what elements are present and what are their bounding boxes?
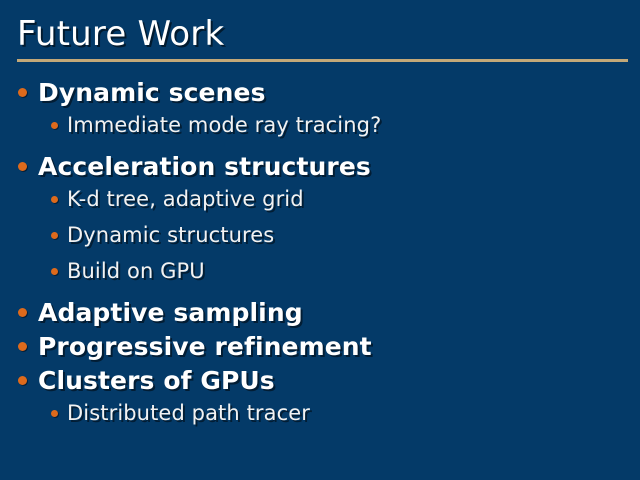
- list-item-label: Build on GPU: [67, 258, 205, 284]
- page-title: Future Work: [17, 14, 224, 54]
- list-item-label: Dynamic scenes: [38, 78, 266, 108]
- list-item: Progressive refinement: [0, 332, 640, 362]
- list-item: Build on GPU: [0, 258, 640, 284]
- list-item: Immediate mode ray tracing?: [0, 112, 640, 138]
- bullet-marker-icon: [18, 162, 27, 171]
- list-item: Dynamic scenes: [0, 78, 640, 108]
- list-item-label: Clusters of GPUs: [38, 366, 275, 396]
- bullet-marker-icon: [51, 232, 58, 239]
- bullet-marker-icon: [18, 342, 27, 351]
- slide-title-block: Future Work: [0, 0, 640, 70]
- bullet-marker-icon: [18, 88, 27, 97]
- list-item-label: Dynamic structures: [67, 222, 274, 248]
- bullet-marker-icon: [51, 410, 58, 417]
- bullet-marker-icon: [51, 196, 58, 203]
- bullet-list: Dynamic scenes Immediate mode ray tracin…: [0, 70, 640, 426]
- bullet-marker-icon: [51, 122, 58, 129]
- list-item: Clusters of GPUs: [0, 366, 640, 396]
- list-item-label: Acceleration structures: [38, 152, 371, 182]
- title-divider: [17, 59, 628, 62]
- list-item: Dynamic structures: [0, 222, 640, 248]
- slide: Future Work Dynamic scenes Immediate mod…: [0, 0, 640, 480]
- list-item-label: Progressive refinement: [38, 332, 372, 362]
- list-item: Distributed path tracer: [0, 400, 640, 426]
- bullet-marker-icon: [51, 268, 58, 275]
- list-item-label: Adaptive sampling: [38, 298, 303, 328]
- list-item: Adaptive sampling: [0, 298, 640, 328]
- list-item: K-d tree, adaptive grid: [0, 186, 640, 212]
- list-item: Acceleration structures: [0, 152, 640, 182]
- list-item-label: Immediate mode ray tracing?: [67, 112, 381, 138]
- bullet-marker-icon: [18, 376, 27, 385]
- list-item-label: Distributed path tracer: [67, 400, 310, 426]
- list-item-label: K-d tree, adaptive grid: [67, 186, 304, 212]
- bullet-marker-icon: [18, 308, 27, 317]
